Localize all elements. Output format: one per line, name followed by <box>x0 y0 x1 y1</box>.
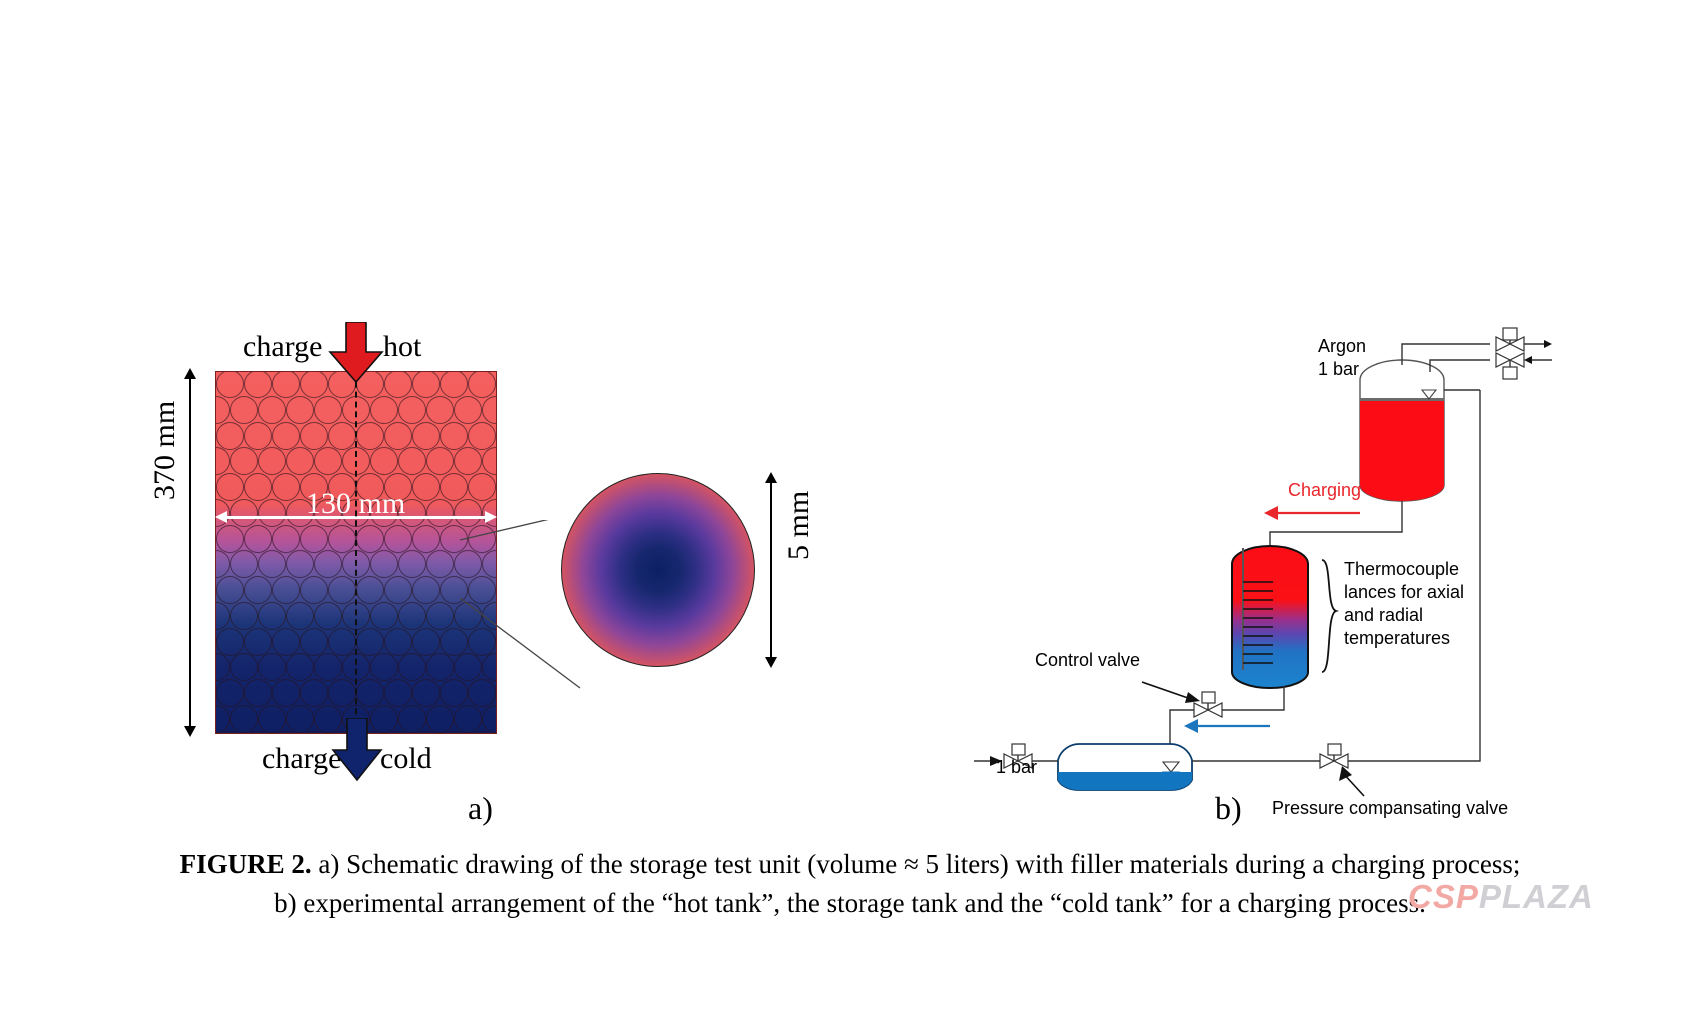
filler-sphere <box>454 705 482 733</box>
filler-sphere <box>496 473 497 501</box>
filler-sphere <box>215 653 230 681</box>
filler-sphere <box>468 371 496 398</box>
filler-sphere <box>314 653 342 681</box>
filler-sphere <box>426 447 454 475</box>
filler-sphere <box>356 679 384 707</box>
filler-sphere <box>272 371 300 398</box>
filler-sphere <box>244 679 272 707</box>
filler-sphere <box>328 628 356 656</box>
filler-sphere <box>328 525 356 553</box>
filler-sphere <box>328 422 356 450</box>
filler-sphere <box>300 628 328 656</box>
filler-sphere <box>258 396 286 424</box>
filler-sphere <box>314 447 342 475</box>
watermark: CSPPLAZA <box>1408 878 1594 916</box>
filler-sphere <box>300 576 328 604</box>
filler-sphere <box>314 602 342 630</box>
filler-sphere <box>482 447 497 475</box>
filler-sphere <box>216 628 244 656</box>
filler-sphere <box>244 422 272 450</box>
filler-sphere <box>398 550 426 578</box>
filler-sphere <box>398 653 426 681</box>
filler-sphere <box>258 705 286 733</box>
height-arrow-top-icon <box>184 368 196 379</box>
panel-b-schematic <box>960 320 1700 820</box>
filler-sphere <box>272 628 300 656</box>
filler-sphere <box>496 371 497 398</box>
filler-sphere <box>356 525 384 553</box>
filler-sphere <box>356 628 384 656</box>
filler-sphere <box>300 371 328 398</box>
filler-sphere <box>454 447 482 475</box>
height-dimension-label: 370 mm <box>148 401 182 500</box>
filler-sphere <box>244 371 272 398</box>
charging-flow-label: Charging <box>1288 480 1361 501</box>
filler-sphere <box>482 705 497 733</box>
filler-sphere <box>286 705 314 733</box>
filler-sphere <box>314 396 342 424</box>
tank-centerline <box>355 352 357 744</box>
filler-sphere <box>300 679 328 707</box>
filler-sphere <box>426 550 454 578</box>
filler-sphere <box>258 550 286 578</box>
sphere-arrow-bottom-icon <box>765 657 777 668</box>
filler-sphere <box>272 525 300 553</box>
filler-sphere <box>398 602 426 630</box>
filler-sphere <box>272 679 300 707</box>
filler-sphere <box>258 653 286 681</box>
filler-sphere <box>412 679 440 707</box>
panel-b: Argon 1 bar Charging Thermocouple lances… <box>960 320 1700 840</box>
filler-sphere <box>215 447 230 475</box>
filler-sphere <box>272 422 300 450</box>
filler-sphere <box>412 422 440 450</box>
watermark-plaza: PLAZA <box>1479 878 1594 915</box>
width-arrow-right-icon <box>485 511 497 523</box>
filler-sphere <box>286 602 314 630</box>
filler-sphere <box>216 525 244 553</box>
filler-sphere <box>370 602 398 630</box>
filler-sphere <box>426 705 454 733</box>
filler-sphere <box>370 653 398 681</box>
filler-sphere <box>426 653 454 681</box>
filler-sphere <box>328 679 356 707</box>
height-arrow-bottom-icon <box>184 726 196 737</box>
filler-sphere <box>426 396 454 424</box>
filler-sphere <box>384 576 412 604</box>
filler-sphere <box>244 576 272 604</box>
filler-sphere <box>286 447 314 475</box>
sphere-arrow-top-icon <box>765 472 777 483</box>
charge-cold-label-right: cold <box>380 742 432 776</box>
control-valve-label: Control valve <box>1035 650 1140 671</box>
filler-sphere <box>440 422 468 450</box>
filler-sphere <box>230 447 258 475</box>
filler-sphere <box>412 525 440 553</box>
magnified-filler-sphere <box>561 473 755 667</box>
filler-sphere <box>412 371 440 398</box>
filler-sphere <box>482 396 497 424</box>
caption-figure-number: FIGURE 2. <box>180 849 312 879</box>
filler-sphere <box>216 422 244 450</box>
filler-sphere <box>230 499 258 527</box>
filler-sphere <box>216 473 244 501</box>
filler-sphere <box>215 705 230 733</box>
filler-sphere <box>286 550 314 578</box>
filler-sphere <box>496 422 497 450</box>
filler-sphere <box>356 422 384 450</box>
watermark-csp: CSP <box>1408 878 1479 915</box>
filler-sphere <box>426 499 454 527</box>
filler-sphere <box>398 396 426 424</box>
filler-sphere <box>230 550 258 578</box>
filler-sphere <box>398 705 426 733</box>
filler-sphere <box>216 371 244 398</box>
cold-charge-arrow-icon <box>330 718 384 782</box>
hot-charge-arrow-icon <box>327 322 385 384</box>
filler-sphere <box>328 576 356 604</box>
filler-sphere <box>230 602 258 630</box>
filler-sphere <box>370 396 398 424</box>
panel-a: charge hot 370 mm 130 mm <box>0 0 880 830</box>
filler-sphere <box>258 447 286 475</box>
filler-sphere <box>244 628 272 656</box>
filler-sphere <box>244 525 272 553</box>
filler-sphere <box>426 602 454 630</box>
filler-sphere <box>384 628 412 656</box>
filler-sphere <box>286 396 314 424</box>
filler-sphere <box>216 576 244 604</box>
width-arrow-left-icon <box>215 511 227 523</box>
figure-canvas: charge hot 370 mm 130 mm <box>0 0 1700 1016</box>
filler-sphere <box>356 576 384 604</box>
filler-sphere <box>230 705 258 733</box>
sphere-dimension-line <box>770 480 772 660</box>
pressure-compensating-valve-label: Pressure compansating valve <box>1272 798 1508 819</box>
filler-sphere <box>230 396 258 424</box>
argon-pressure-label: Argon 1 bar <box>1318 335 1366 381</box>
filler-sphere <box>300 525 328 553</box>
filler-sphere <box>412 473 440 501</box>
filler-sphere <box>258 499 286 527</box>
filler-sphere <box>230 653 258 681</box>
filler-sphere <box>384 422 412 450</box>
thermocouple-annotation: Thermocouple lances for axial and radial… <box>1344 558 1464 650</box>
filler-sphere <box>384 371 412 398</box>
sphere-dimension-label: 5 mm <box>782 491 816 560</box>
filler-sphere <box>272 473 300 501</box>
charge-hot-label-left: charge <box>243 330 322 364</box>
filler-sphere <box>468 422 496 450</box>
filler-sphere <box>300 422 328 450</box>
filler-sphere <box>215 550 230 578</box>
filler-sphere <box>412 576 440 604</box>
filler-sphere <box>384 679 412 707</box>
cold-tank-pressure-label: 1 bar <box>996 757 1037 778</box>
panel-a-caption-label: a) <box>468 790 493 827</box>
filler-sphere <box>272 576 300 604</box>
filler-sphere <box>412 628 440 656</box>
filler-sphere <box>215 396 230 424</box>
height-dimension-line <box>189 376 191 729</box>
filler-sphere <box>244 473 272 501</box>
filler-sphere <box>384 525 412 553</box>
filler-sphere <box>454 396 482 424</box>
filler-sphere <box>370 550 398 578</box>
filler-sphere <box>370 447 398 475</box>
filler-sphere <box>440 473 468 501</box>
filler-sphere <box>496 731 497 734</box>
filler-sphere <box>440 371 468 398</box>
filler-sphere <box>216 679 244 707</box>
filler-sphere <box>468 473 496 501</box>
filler-sphere <box>215 602 230 630</box>
charge-hot-label-right: hot <box>383 330 421 364</box>
panel-b-caption-label: b) <box>1215 790 1242 827</box>
caption-line-1: a) Schematic drawing of the storage test… <box>312 849 1521 879</box>
filler-sphere <box>398 447 426 475</box>
filler-sphere <box>286 653 314 681</box>
filler-sphere <box>314 550 342 578</box>
filler-sphere <box>258 602 286 630</box>
